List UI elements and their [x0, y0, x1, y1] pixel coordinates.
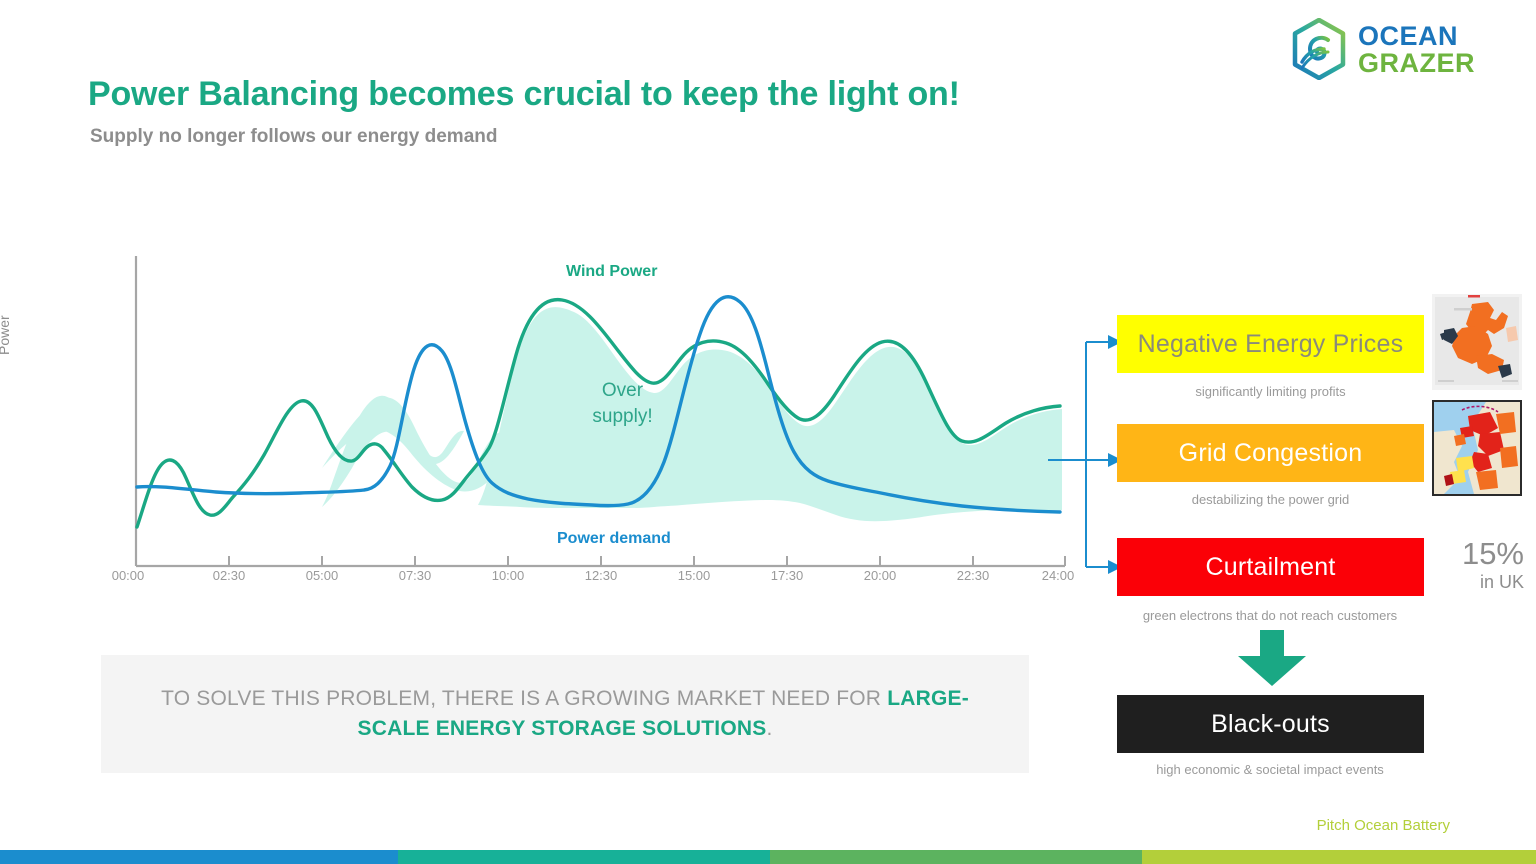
slide-root: Power Balancing becomes crucial to keep …: [0, 0, 1536, 864]
consequence-label: Grid Congestion: [1179, 439, 1363, 468]
europe-negative-prices-map: [1432, 294, 1522, 390]
x-tick-4: 10:00: [478, 568, 538, 583]
footer-note: Pitch Ocean Battery: [1317, 817, 1450, 834]
wind-power-series-label: Wind Power: [566, 263, 657, 281]
power-demand-series-label: Power demand: [557, 530, 671, 548]
x-tick-3: 07:30: [385, 568, 445, 583]
footer-bar-segment-1: [0, 850, 398, 864]
footer-bar-segment-3: [770, 850, 1142, 864]
x-tick-8: 20:00: [850, 568, 910, 583]
consequence-label: Black-outs: [1211, 710, 1330, 739]
netherlands-grid-congestion-map: [1432, 400, 1522, 496]
curtailment-stat: 15% in UK: [1432, 538, 1524, 594]
x-tick-6: 15:00: [664, 568, 724, 583]
consequence-caption-negative-energy-prices: significantly limiting profits: [1117, 384, 1424, 399]
x-tick-0: 00:00: [98, 568, 158, 583]
x-tick-9: 22:30: [943, 568, 1003, 583]
consequence-label: Curtailment: [1205, 553, 1335, 582]
chart-x-ticks: [136, 556, 1065, 566]
x-tick-5: 12:30: [571, 568, 631, 583]
footer-bar-segment-4: [1142, 850, 1536, 864]
stat-region: in UK: [1432, 571, 1524, 594]
oversupply-line-2: supply!: [592, 406, 652, 427]
footer-bar-segment-2: [398, 850, 770, 864]
footer-color-bar: [0, 850, 1536, 864]
consequence-caption-black-outs: high economic & societal impact events: [1070, 762, 1470, 777]
consequence-box-curtailment[interactable]: Curtailment: [1117, 538, 1424, 596]
oversupply-annotation: Over supply!: [575, 378, 670, 429]
statement-tail: .: [766, 717, 772, 740]
consequence-box-black-outs[interactable]: Black-outs: [1117, 695, 1424, 753]
consequence-caption-grid-congestion: destabilizing the power grid: [1117, 492, 1424, 507]
oversupply-fill-2: [478, 307, 1062, 521]
statement-lead: TO SOLVE THIS PROBLEM, THERE IS A GROWIN…: [161, 687, 887, 710]
statement-text: TO SOLVE THIS PROBLEM, THERE IS A GROWIN…: [141, 684, 989, 745]
oversupply-line-1: Over: [602, 380, 643, 401]
consequence-label: Negative Energy Prices: [1138, 330, 1404, 359]
stat-value: 15%: [1432, 538, 1524, 571]
consequence-box-negative-energy-prices[interactable]: Negative Energy Prices: [1117, 315, 1424, 373]
consequence-box-grid-congestion[interactable]: Grid Congestion: [1117, 424, 1424, 482]
statement-banner: TO SOLVE THIS PROBLEM, THERE IS A GROWIN…: [101, 655, 1029, 773]
x-tick-1: 02:30: [199, 568, 259, 583]
x-tick-2: 05:00: [292, 568, 352, 583]
consequence-caption-curtailment: green electrons that do not reach custom…: [1070, 608, 1470, 623]
x-tick-7: 17:30: [757, 568, 817, 583]
down-arrow-icon: [1230, 630, 1314, 688]
